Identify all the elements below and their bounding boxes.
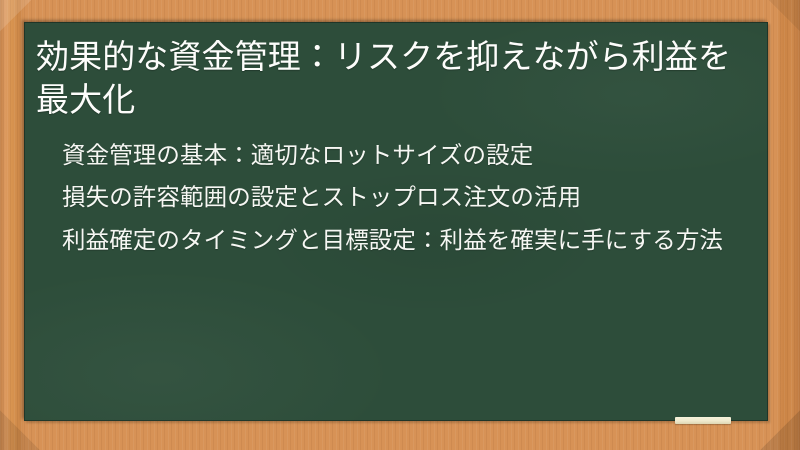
chalkboard-surface: 効果的な資金管理：リスクを抑えながら利益を最大化 資金管理の基本：適切なロットサ… [24, 22, 768, 421]
slide-title: 効果的な資金管理：リスクを抑えながら利益を最大化 [34, 30, 736, 122]
chalkboard-slide: 効果的な資金管理：リスクを抑えながら利益を最大化 資金管理の基本：適切なロットサ… [0, 0, 800, 450]
bullet-item: 資金管理の基本：適切なロットサイズの設定 [62, 139, 750, 172]
chalk-stick-icon [675, 417, 731, 424]
bullet-item: 損失の許容範囲の設定とストップロス注文の活用 [62, 181, 750, 214]
bullet-list: 資金管理の基本：適切なロットサイズの設定 損失の許容範囲の設定とストップロス注文… [34, 139, 750, 257]
chalkboard-content: 効果的な資金管理：リスクを抑えながら利益を最大化 資金管理の基本：適切なロットサ… [24, 22, 768, 257]
bullet-item: 利益確定のタイミングと目標設定：利益を確実に手にする方法 [62, 224, 750, 257]
